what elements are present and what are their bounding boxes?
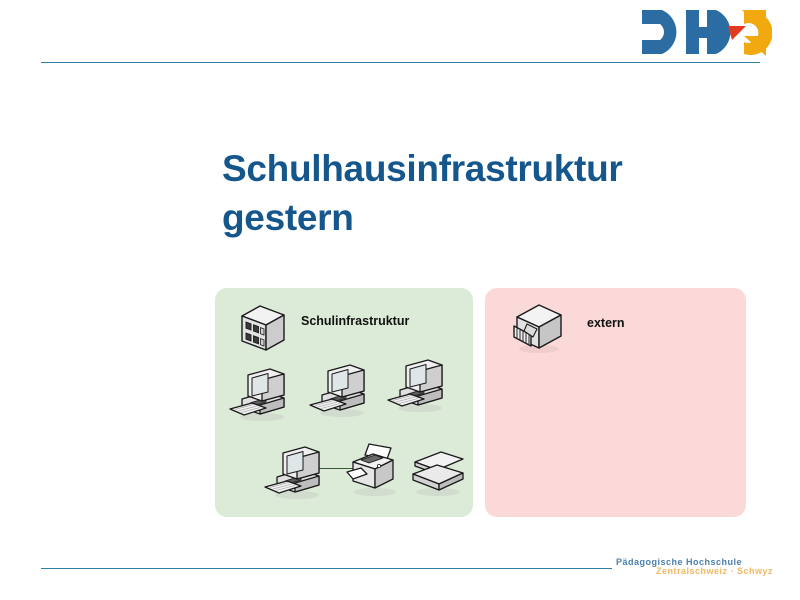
phz-logo-h [686, 10, 730, 54]
panel-schulinfrastruktur-label: Schulinfrastruktur [301, 314, 409, 328]
panel-extern-label: extern [587, 316, 625, 330]
desktop-computer-icon-1 [228, 365, 290, 428]
footer-institution-region: Zentralschweiz · Schwyz [656, 566, 773, 576]
page-title-line-1: Schulhausinfrastruktur [222, 144, 742, 193]
panel-schulinfrastruktur: Schulinfrastruktur [215, 288, 473, 517]
desktop-computer-icon-4 [263, 443, 325, 506]
scanner-icon [407, 448, 469, 503]
presentation-slide: Schulhausinfrastruktur gestern [0, 0, 800, 600]
desktop-computer-icon-2 [308, 361, 370, 424]
phz-logo-accent [728, 26, 746, 40]
page-title-line-2: gestern [222, 193, 742, 242]
desktop-computer-icon-3 [386, 356, 448, 419]
phz-logo-p [642, 10, 676, 54]
server-rack-icon [238, 302, 288, 359]
header-divider [41, 62, 760, 63]
footer-divider [41, 568, 612, 569]
panel-extern: extern [485, 288, 746, 517]
page-title: Schulhausinfrastruktur gestern [222, 144, 742, 242]
printer-icon [343, 440, 405, 503]
network-server-icon [509, 300, 567, 361]
phz-logo [632, 6, 772, 58]
phz-logo-z [742, 10, 772, 56]
